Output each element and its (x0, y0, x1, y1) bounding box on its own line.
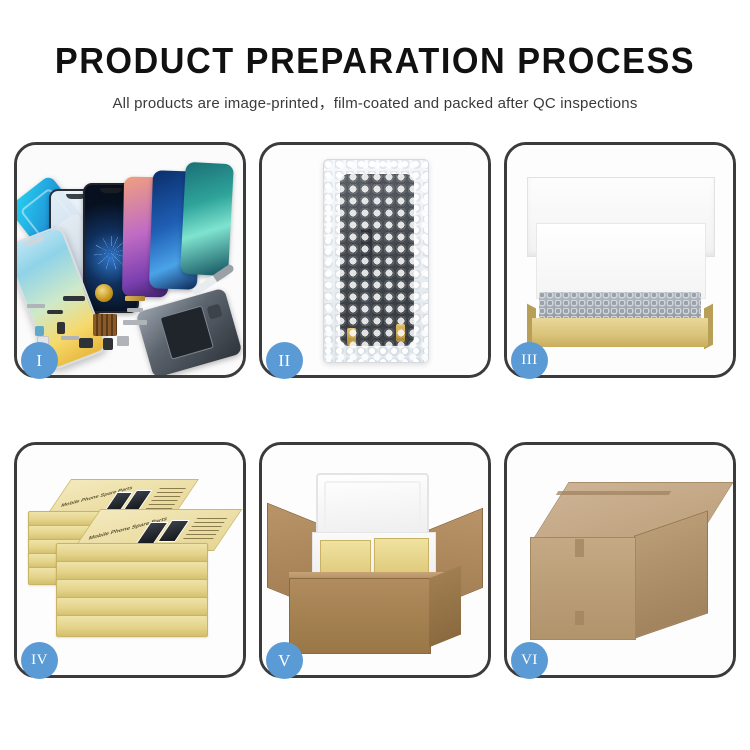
earpiece-mesh-part (63, 296, 85, 301)
step-badge-6: VI (511, 642, 548, 679)
battery-connector-part (79, 338, 93, 348)
disassembled-phone-icon (135, 288, 242, 375)
stack-box-front-5 (56, 615, 208, 637)
wrapped-screen-icon (340, 174, 414, 346)
tape-tab-upper (575, 539, 584, 557)
camera-module-part (35, 326, 44, 336)
page-subtitle: All products are image-printed，film-coat… (0, 82, 750, 113)
stack-box-front-4 (56, 597, 208, 617)
bubble-wrap-bag (323, 159, 429, 363)
step-panel-2[interactable]: II (259, 142, 491, 378)
process-step-grid: I II (14, 142, 737, 679)
step-badge-1: I (21, 342, 58, 379)
step-image-3 (507, 145, 733, 375)
phone-display-teal-icon (180, 162, 234, 276)
box-stack: Mobile Phone Spare Parts Mobile Phone Sp… (26, 463, 234, 661)
screen-flex-cable (361, 229, 372, 326)
small-board-part (117, 336, 129, 346)
foam-box-lid (316, 473, 428, 541)
stack-box-front-1 (56, 543, 208, 563)
stack-box-front-3 (56, 579, 208, 599)
page-title: PRODUCT PREPARATION PROCESS (19, 0, 732, 82)
gold-connector-left (347, 328, 356, 346)
step-image-2 (262, 145, 488, 375)
step-image-4: Mobile Phone Spare Parts Mobile Phone Sp… (17, 445, 243, 675)
connector-part (57, 322, 65, 334)
step-panel-6[interactable]: VI (504, 442, 736, 678)
ribbon-part (61, 336, 79, 340)
antenna-strip-part (47, 310, 63, 314)
step-image-6 (507, 445, 733, 675)
step-badge-3: III (511, 342, 548, 379)
step-panel-3[interactable]: III (504, 142, 736, 378)
step-badge-4: IV (21, 642, 58, 679)
step-image-1 (17, 145, 243, 375)
foam-sheet (536, 223, 705, 299)
carton-side-right (429, 565, 461, 647)
stack-box-front-2 (56, 561, 208, 581)
gold-connector-right (396, 324, 405, 342)
flex-cable-gold-part (125, 296, 145, 301)
tape-tab-lower (575, 611, 584, 625)
vibrator-part (103, 338, 113, 350)
flex-cable-long-part (123, 320, 147, 325)
step-panel-4[interactable]: Mobile Phone Spare Parts Mobile Phone Sp… (14, 442, 246, 678)
step-panel-5[interactable]: V (259, 442, 491, 678)
header: PRODUCT PREPARATION PROCESS All products… (0, 0, 750, 113)
flex-cable-part (127, 308, 143, 312)
step-panel-1[interactable]: I (14, 142, 246, 378)
step-badge-2: II (266, 342, 303, 379)
tape-strip-top (555, 491, 670, 495)
bracket-part (27, 304, 45, 308)
speaker-coil-part (95, 284, 113, 302)
carton-front (289, 578, 431, 654)
box-front-kraft (532, 318, 708, 348)
step-image-5 (262, 445, 488, 675)
chip-array-part (93, 314, 117, 336)
product-preparation-infographic: PRODUCT PREPARATION PROCESS All products… (0, 0, 750, 750)
step-badge-5: V (266, 642, 303, 679)
